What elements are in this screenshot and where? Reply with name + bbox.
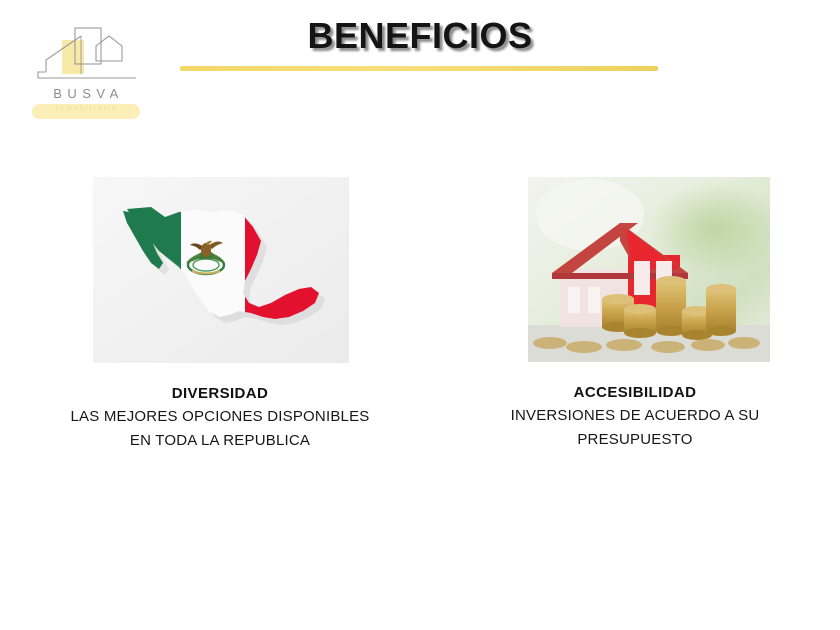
brand-tagline: inmobiliaria xyxy=(32,105,140,112)
benefit-body-line-2: PRESUPUESTO xyxy=(460,429,810,451)
title-underline-rule xyxy=(180,66,658,71)
house-and-coins-image xyxy=(528,177,770,362)
benefit-body-line-1: INVERSIONES DE ACUERDO A SU xyxy=(460,405,810,427)
benefit-body-line-2: EN TODA LA REPUBLICA xyxy=(30,430,410,452)
benefit-heading: ACCESIBILIDAD xyxy=(460,383,810,403)
buildings-logo-icon xyxy=(26,24,146,88)
benefit-caption: ACCESIBILIDAD INVERSIONES DE ACUERDO A S… xyxy=(460,383,810,451)
benefit-caption: DIVERSIDAD LAS MEJORES OPCIONES DISPONIB… xyxy=(30,384,410,452)
brand-logo: BUSVA inmobiliaria xyxy=(26,24,146,120)
benefit-card-accesibilidad: ACCESIBILIDAD INVERSIONES DE ACUERDO A S… xyxy=(460,177,810,451)
brand-name: BUSVA xyxy=(26,86,146,101)
mexico-map-flag-image xyxy=(93,177,349,363)
brand-tagline-pill: inmobiliaria xyxy=(32,104,140,119)
benefit-heading: DIVERSIDAD xyxy=(30,384,410,404)
benefit-card-diversidad: DIVERSIDAD LAS MEJORES OPCIONES DISPONIB… xyxy=(30,177,410,452)
page-title: BENEFICIOS xyxy=(180,15,660,57)
benefit-body-line-1: LAS MEJORES OPCIONES DISPONIBLES xyxy=(30,406,410,428)
